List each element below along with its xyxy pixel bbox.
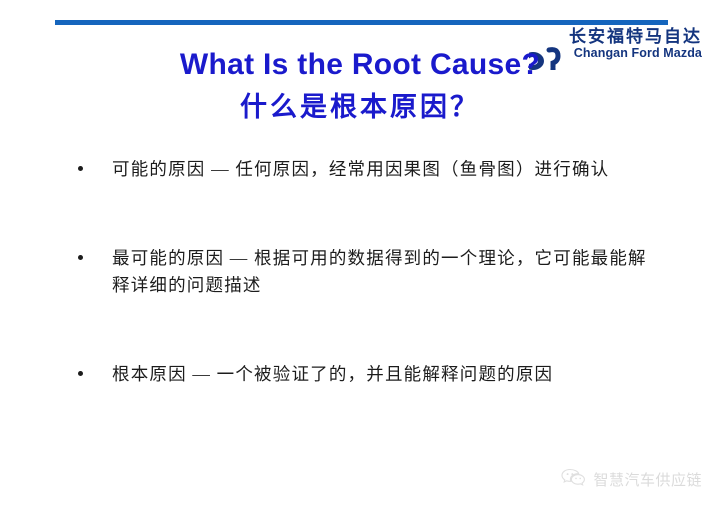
watermark-text: 智慧汽车供应链 [593, 469, 702, 490]
header-accent-rule [55, 20, 668, 25]
bullet-item-most-likely-cause: 最可能的原因 — 根据可用的数据得到的一个理论，它可能最能解释详细的问题描述 [72, 245, 652, 299]
bullet-marker-icon [78, 371, 83, 376]
logo-chinese-name: 长安福特马自达 [569, 28, 702, 45]
wechat-icon [561, 468, 587, 491]
bullet-marker-icon [78, 166, 83, 171]
bullet-item-root-cause: 根本原因 — 一个被验证了的，并且能解释问题的原因 [72, 361, 652, 388]
bullet-text: 根本原因 — 一个被验证了的，并且能解释问题的原因 [112, 364, 553, 384]
watermark: 智慧汽车供应链 [561, 468, 702, 491]
slide-title-chinese: 什么是根本原因？ [0, 85, 720, 124]
bullet-marker-icon [78, 255, 83, 260]
bullet-list: 可能的原因 — 任何原因，经常用因果图（鱼骨图）进行确认 最可能的原因 — 根据… [72, 156, 652, 389]
slide-root-cause: 长安福特马自达 Changan Ford Mazda What Is the R… [0, 0, 720, 509]
bullet-text: 可能的原因 — 任何原因，经常用因果图（鱼骨图）进行确认 [112, 159, 609, 179]
bullet-text: 最可能的原因 — 根据可用的数据得到的一个理论，它可能最能解释详细的问题描述 [112, 248, 647, 295]
bullet-item-possible-cause: 可能的原因 — 任何原因，经常用因果图（鱼骨图）进行确认 [72, 156, 652, 183]
slide-title-english: What Is the Root Cause? [0, 48, 720, 82]
